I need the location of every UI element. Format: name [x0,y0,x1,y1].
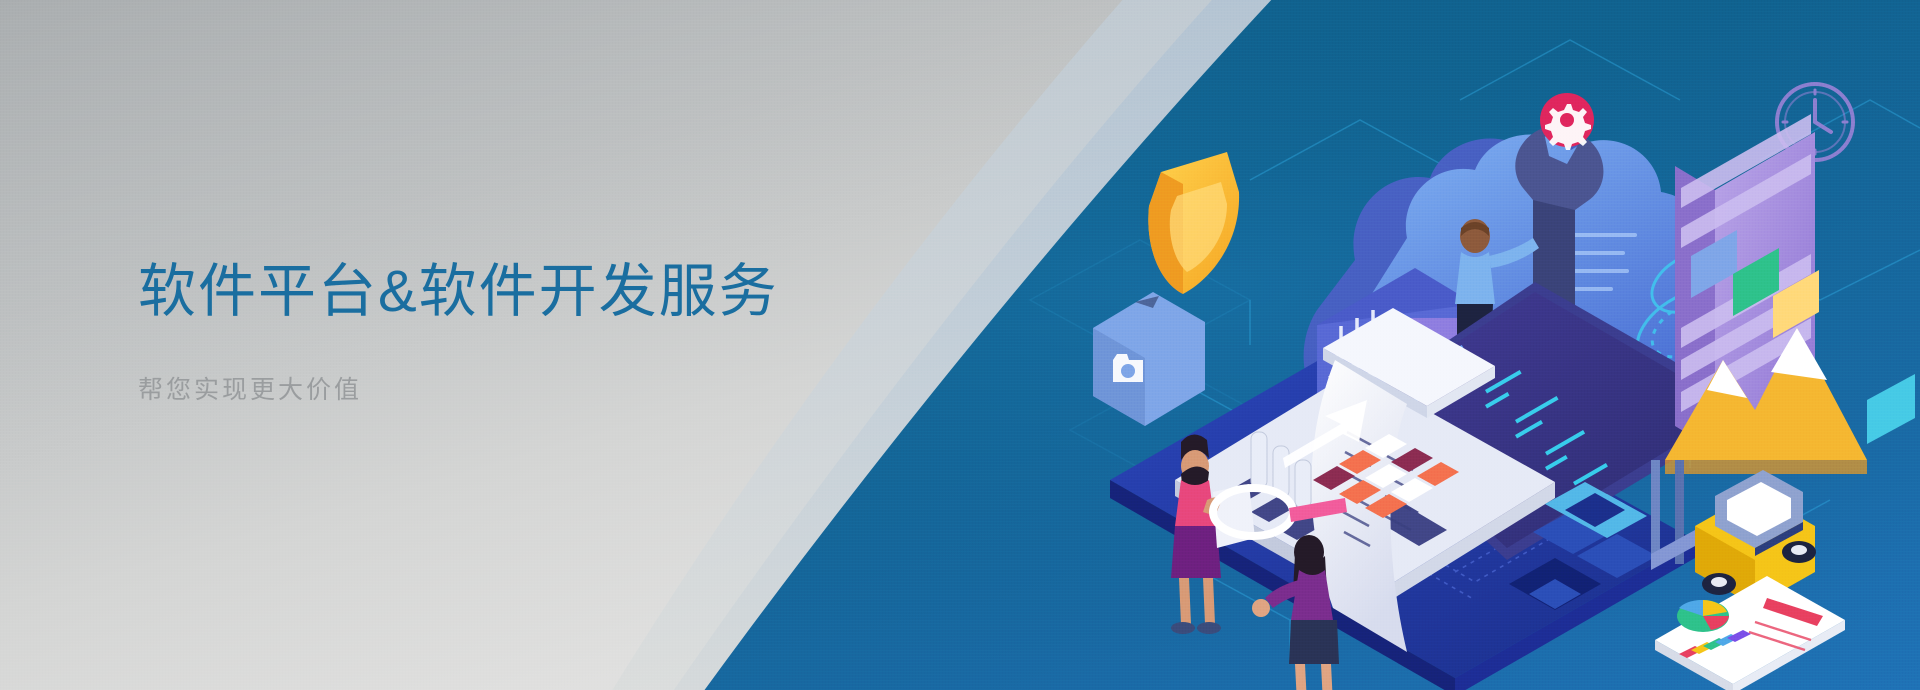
hero-banner: 软件平台&软件开发服务 帮您实现更大价值 [0,0,1920,690]
forklift-icon [1651,460,1816,606]
camera-card-icon [1093,292,1205,426]
isometric-illustration [1055,60,1920,690]
pie-chart-icon [1677,600,1729,632]
news-card-icon [1655,576,1845,690]
banner-copy: 软件平台&软件开发服务 帮您实现更大价值 [138,258,898,406]
page-title: 软件平台&软件开发服务 [138,258,898,326]
page-subtitle: 帮您实现更大价值 [138,326,898,406]
shield-icon [1148,152,1239,294]
